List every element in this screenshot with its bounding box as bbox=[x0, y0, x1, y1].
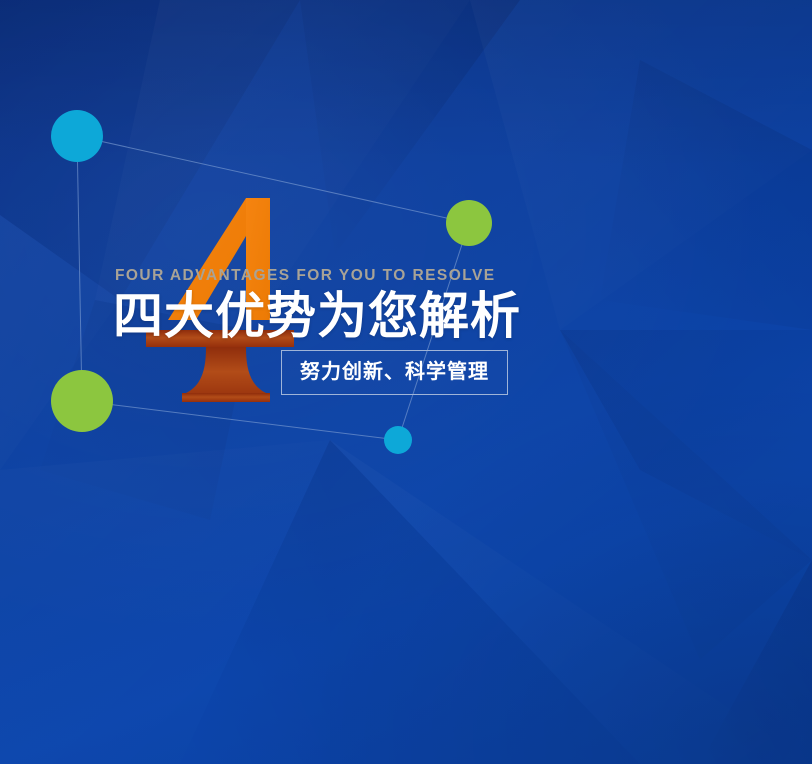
edge-green-bottom-left-to-cyan-bottom bbox=[82, 401, 398, 440]
node-green-bottom-left bbox=[51, 370, 113, 432]
node-cyan-top-left bbox=[51, 110, 103, 162]
node-cyan-bottom bbox=[384, 426, 412, 454]
banner-tagline-badge[interactable]: 努力创新、科学管理 bbox=[281, 350, 508, 395]
edge-cyan-top-left-to-green-bottom-left bbox=[77, 136, 82, 401]
node-green-right bbox=[446, 200, 492, 246]
promo-banner: FOUR ADVANTAGES FOR YOU TO RESOLVE 四大优势为… bbox=[0, 0, 812, 764]
banner-headline: 四大优势为您解析 bbox=[113, 290, 733, 342]
banner-text-block: FOUR ADVANTAGES FOR YOU TO RESOLVE 四大优势为… bbox=[113, 268, 733, 342]
banner-eyebrow: FOUR ADVANTAGES FOR YOU TO RESOLVE bbox=[115, 268, 733, 284]
banner-tagline-row: 努力创新、科学管理 bbox=[281, 350, 508, 395]
